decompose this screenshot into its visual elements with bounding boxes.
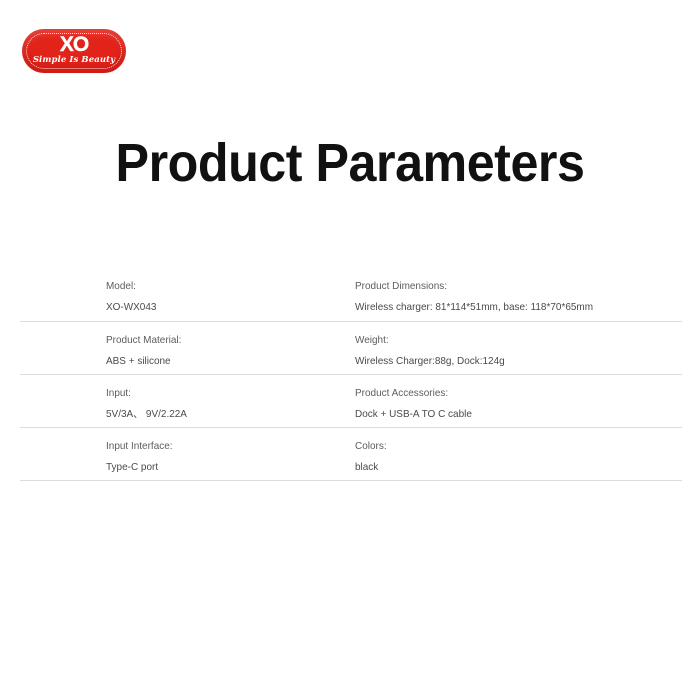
spec-value: Dock + USB-A TO C cable [355,407,666,422]
spec-value: XO-WX043 [106,300,288,315]
spec-cell-right: Product Dimensions: Wireless charger: 81… [298,268,682,321]
spec-label: Product Material: [106,333,288,348]
product-parameters-page: XO Simple Is Beauty Product Parameters M… [0,0,700,700]
spec-value: Wireless charger: 81*114*51mm, base: 118… [355,300,666,315]
table-row: Input: 5V/3A、 9V/2.22A Product Accessori… [20,374,682,427]
spec-cell-left: Product Material: ABS + silicone [20,322,298,374]
spec-label: Model: [106,279,288,294]
spec-table: Model: XO-WX043 Product Dimensions: Wire… [20,268,682,481]
spec-label: Input: [106,386,288,401]
spec-value: black [355,460,666,475]
spec-label: Colors: [355,439,666,454]
spec-cell-right: Product Accessories: Dock + USB-A TO C c… [298,375,682,427]
spec-cell-left: Model: XO-WX043 [20,268,298,321]
logo-wordmark: XO [22,34,126,56]
table-row: Product Material: ABS + silicone Weight:… [20,321,682,374]
logo-tagline: Simple Is Beauty [22,55,126,65]
spec-cell-left: Input Interface: Type-C port [20,428,298,480]
spec-value: 5V/3A、 9V/2.22A [106,407,288,422]
page-title: Product Parameters [25,132,676,194]
spec-label: Input Interface: [106,439,288,454]
spec-value: Wireless Charger:88g, Dock:124g [355,354,666,369]
xo-brand-logo: XO Simple Is Beauty [22,29,126,73]
spec-cell-right: Colors: black [298,428,682,480]
spec-label: Weight: [355,333,666,348]
spec-cell-left: Input: 5V/3A、 9V/2.22A [20,375,298,427]
table-row: Input Interface: Type-C port Colors: bla… [20,427,682,480]
spec-cell-right: Weight: Wireless Charger:88g, Dock:124g [298,322,682,374]
spec-label: Product Dimensions: [355,279,666,294]
spec-value: Type-C port [106,460,288,475]
spec-value: ABS + silicone [106,354,288,369]
spec-label: Product Accessories: [355,386,666,401]
table-row: Model: XO-WX043 Product Dimensions: Wire… [20,268,682,321]
